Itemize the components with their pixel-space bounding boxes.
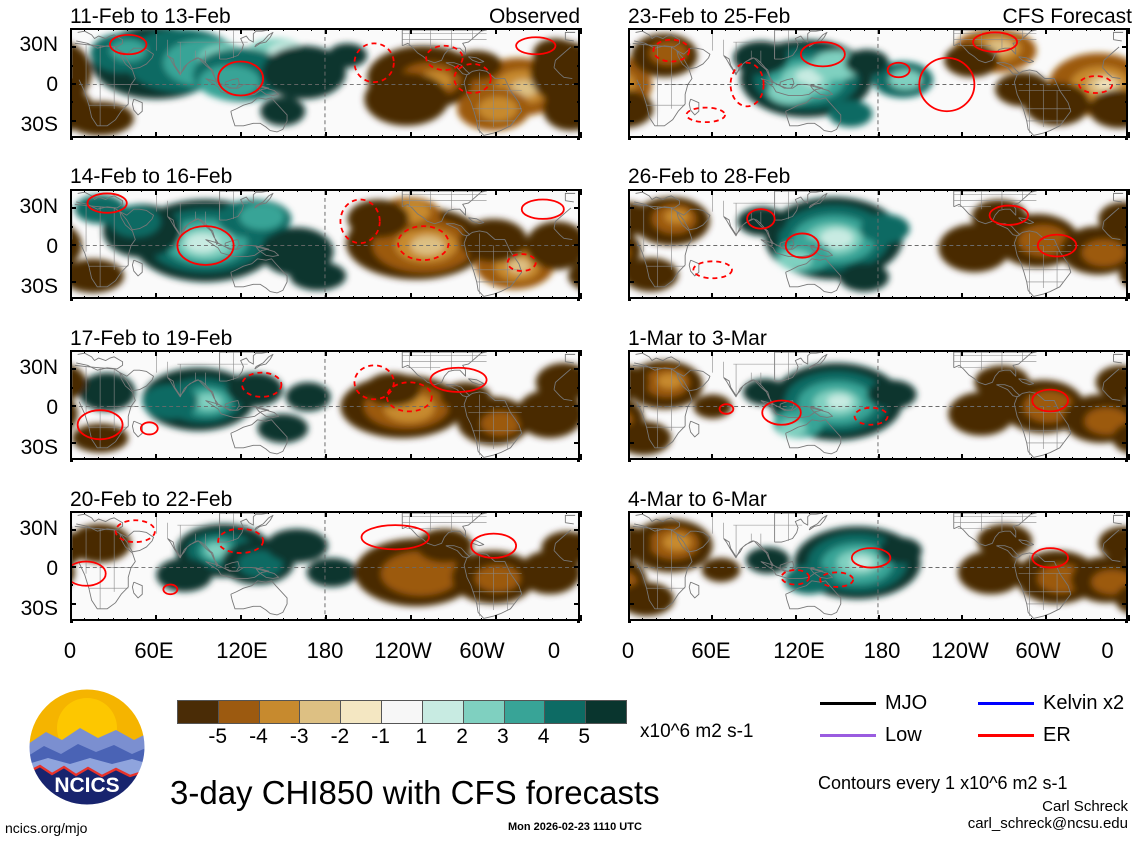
- x-tick-mark: [438, 296, 439, 299]
- x-tick-mark: [226, 618, 227, 621]
- x-tick-mark: [1017, 350, 1018, 353]
- x-tick-mark: [642, 618, 643, 621]
- x-tick-mark: [864, 189, 865, 192]
- x-tick-mark: [311, 296, 312, 299]
- x-tick-mark: [697, 511, 698, 514]
- x-tick-mark: [254, 618, 255, 621]
- x-tick-mark: [552, 189, 553, 192]
- x-tick-mark: [836, 350, 837, 353]
- x-tick-mark: [283, 28, 284, 31]
- x-tick-mark: [552, 457, 553, 460]
- x-tick-mark: [906, 618, 907, 621]
- x-tick-mark: [368, 28, 369, 31]
- y-tick-mark: [1122, 83, 1128, 85]
- x-tick-mark: [183, 511, 184, 514]
- x-tick-mark: [961, 350, 963, 356]
- x-tick-mark: [283, 618, 284, 621]
- y-tick-mark: [574, 368, 580, 370]
- x-tick-mark: [141, 350, 142, 353]
- y-tick-mark: [577, 621, 580, 623]
- x-tick-mark: [975, 296, 976, 299]
- x-tick-mark: [906, 135, 907, 138]
- x-tick-mark: [538, 296, 539, 299]
- contour-interval-note: Contours every 1 x10^6 m2 s-1: [818, 774, 1068, 792]
- x-tick-mark: [1059, 135, 1060, 138]
- x-tick-mark: [368, 618, 369, 621]
- map-panel-p8[interactable]: [628, 511, 1128, 621]
- x-tick-mark: [920, 189, 921, 192]
- x-tick-mark: [697, 350, 698, 353]
- x-tick-mark: [753, 296, 754, 299]
- colorbar-swatch-6: [422, 701, 463, 723]
- x-tick-mark: [410, 189, 412, 195]
- x-tick-mark: [975, 618, 976, 621]
- x-tick-mark: [989, 135, 990, 138]
- x-tick-mark: [781, 457, 782, 460]
- x-tick-mark: [98, 350, 99, 353]
- x-tick-mark: [113, 457, 114, 460]
- x-tick-mark: [580, 189, 582, 195]
- legend-label-er: ER: [1043, 725, 1071, 745]
- x-tick-mark: [920, 350, 921, 353]
- y-tick-mark: [628, 65, 631, 67]
- x-tick-mark: [836, 189, 837, 192]
- y-tick-mark: [628, 83, 634, 85]
- legend-line-low: [820, 734, 876, 737]
- x-tick-mark: [656, 457, 657, 460]
- x-tick-mark: [725, 296, 726, 299]
- x-tick-mark: [396, 296, 397, 299]
- y-tick-mark: [70, 262, 73, 264]
- colorbar-tick-neg3: -3: [277, 726, 321, 747]
- x-tick-mark: [113, 189, 114, 192]
- x-tick-mark: [1059, 296, 1060, 299]
- x-tick-mark: [98, 189, 99, 192]
- x-tick-mark: [1100, 189, 1101, 192]
- x-tick-mark: [1114, 28, 1115, 31]
- x-tick-mark: [382, 28, 383, 31]
- x-tick-mark: [670, 511, 671, 514]
- x-tick-mark: [254, 457, 255, 460]
- x-tick-mark: [1128, 293, 1130, 299]
- x-tick-mark: [961, 511, 963, 517]
- x-tick-mark: [481, 296, 482, 299]
- x-tick-mark: [1017, 511, 1018, 514]
- x-tick-mark: [481, 350, 482, 353]
- x-tick-mark: [509, 457, 510, 460]
- x-tick-mark: [127, 457, 128, 460]
- x-tick-mark: [822, 618, 823, 621]
- x-tick-mark: [410, 28, 412, 34]
- x-tick-mark: [98, 28, 99, 31]
- x-tick-mark: [670, 28, 671, 31]
- x-tick-mark: [297, 511, 298, 514]
- x-tick-mark: [240, 132, 242, 138]
- x-tick-mark: [198, 618, 199, 621]
- x-tick-mark: [509, 618, 510, 621]
- x-tick-mark: [523, 350, 524, 353]
- y-tick-mark: [70, 101, 73, 103]
- x-tick-mark: [1086, 135, 1087, 138]
- x-tick-mark: [989, 189, 990, 192]
- x-tick-mark: [268, 457, 269, 460]
- x-tick-mark: [183, 350, 184, 353]
- x-tick-mark: [297, 350, 298, 353]
- x-tick-mark: [155, 189, 157, 195]
- y-tick-mark: [70, 46, 76, 48]
- x-tick-mark: [739, 618, 740, 621]
- x-tick-mark: [1031, 28, 1032, 31]
- x-tick-mark: [822, 189, 823, 192]
- legend-line-er: [978, 734, 1034, 737]
- y-tick-mark: [628, 262, 631, 264]
- x-tick-mark: [1128, 615, 1130, 621]
- x-tick-mark: [198, 457, 199, 460]
- x-tick-mark: [1100, 350, 1101, 353]
- x-tick-mark: [141, 296, 142, 299]
- x-tick-mark: [212, 135, 213, 138]
- legend-line-kelvin: [978, 702, 1034, 705]
- x-tick-mark: [552, 28, 553, 31]
- x-tick-mark: [155, 511, 157, 517]
- x-tick-mark: [212, 618, 213, 621]
- x-tick-mark: [795, 350, 797, 356]
- y-tick-mark: [70, 603, 76, 605]
- colorbar-tick-2: 2: [440, 726, 484, 747]
- x-tick-mark: [580, 454, 582, 460]
- colorbar-swatch-10: [585, 701, 626, 723]
- y-tick-mark: [577, 423, 580, 425]
- site-url-footer[interactable]: ncics.org/mjo: [5, 821, 87, 835]
- x-tick-mark: [864, 618, 865, 621]
- x-tick-mark: [961, 28, 963, 34]
- x-tick-mark: [642, 189, 643, 192]
- x-tick-mark: [1003, 511, 1004, 514]
- y-tick-mark: [1122, 120, 1128, 122]
- x-tick-mark: [850, 457, 851, 460]
- y-tick-mark: [70, 460, 73, 462]
- map-panel-p6[interactable]: [628, 189, 1128, 299]
- x-tick-mark: [169, 28, 170, 31]
- y-tick-mark: [577, 299, 580, 301]
- x-tick-mark: [711, 28, 713, 34]
- x-tick-mark: [906, 189, 907, 192]
- colorbar-swatch-4: [340, 701, 381, 723]
- x-tick-mark: [297, 296, 298, 299]
- x-tick-mark: [753, 511, 754, 514]
- x-tick-mark: [1114, 189, 1115, 192]
- x-tick-mark: [169, 296, 170, 299]
- x-tick-mark: [920, 511, 921, 514]
- y-tick-mark: [574, 405, 580, 407]
- y-tick-mark: [70, 584, 73, 586]
- x-tick-mark: [552, 350, 553, 353]
- y-tick-mark: [577, 584, 580, 586]
- x-tick-mark: [725, 135, 726, 138]
- x-tick-mark: [268, 296, 269, 299]
- x-tick-mark: [836, 296, 837, 299]
- x-tick-mark: [311, 135, 312, 138]
- x-tick-mark: [127, 350, 128, 353]
- x-tick-mark: [453, 135, 454, 138]
- y-tick-mark: [70, 120, 76, 122]
- x-tick-mark: [410, 350, 412, 356]
- x-tick-mark: [934, 135, 935, 138]
- x-tick-mark: [467, 457, 468, 460]
- y-tick-mark: [577, 226, 580, 228]
- x-tick-mark: [283, 189, 284, 192]
- x-tick-mark: [382, 511, 383, 514]
- panel-title-p4: 20-Feb to 22-Feb: [70, 489, 232, 510]
- x-tick-mark: [684, 189, 685, 192]
- x-tick-mark: [552, 511, 553, 514]
- x-tick-mark: [509, 511, 510, 514]
- x-tick-mark: [523, 511, 524, 514]
- colorbar-tick-neg5: -5: [196, 726, 240, 747]
- y-tick-mark: [1122, 46, 1128, 48]
- x-tick-mark: [325, 350, 327, 356]
- x-tick-mark: [767, 457, 768, 460]
- x-tick-mark: [1072, 189, 1073, 192]
- x-tick-mark: [566, 350, 567, 353]
- x-tick-mark: [642, 511, 643, 514]
- x-tick-mark: [254, 189, 255, 192]
- x-tick-mark: [1045, 454, 1047, 460]
- x-tick-left-120e: 120E: [207, 640, 277, 662]
- x-tick-mark: [1003, 135, 1004, 138]
- map-panel-p2[interactable]: [70, 189, 580, 299]
- x-tick-mark: [325, 511, 327, 517]
- x-tick-mark: [396, 511, 397, 514]
- x-tick-mark: [538, 28, 539, 31]
- x-tick-mark: [906, 511, 907, 514]
- x-tick-mark: [552, 135, 553, 138]
- x-tick-mark: [183, 189, 184, 192]
- x-tick-mark: [864, 28, 865, 31]
- x-tick-mark: [311, 457, 312, 460]
- x-tick-mark: [141, 189, 142, 192]
- x-tick-mark: [141, 511, 142, 514]
- x-tick-mark: [424, 511, 425, 514]
- y-tick-mark: [574, 603, 580, 605]
- x-tick-mark: [725, 189, 726, 192]
- y-tick-30n-p3: 30N: [0, 357, 58, 378]
- ncics-logo[interactable]: NCICS: [28, 688, 146, 806]
- colorbar-tick-3: 3: [481, 726, 525, 747]
- x-tick-mark: [438, 511, 439, 514]
- x-tick-mark: [268, 350, 269, 353]
- x-tick-mark: [311, 350, 312, 353]
- x-tick-mark: [566, 189, 567, 192]
- map-panel-p5[interactable]: [628, 28, 1128, 138]
- y-tick-mark: [574, 529, 580, 531]
- map-panel-p3[interactable]: [70, 350, 580, 460]
- x-tick-mark: [656, 296, 657, 299]
- x-tick-mark: [767, 189, 768, 192]
- x-tick-mark: [481, 618, 482, 621]
- colorbar-tick-5: 5: [562, 726, 606, 747]
- x-tick-mark: [566, 28, 567, 31]
- x-tick-mark: [656, 511, 657, 514]
- map-panel-p7[interactable]: [628, 350, 1128, 460]
- x-tick-mark: [1003, 28, 1004, 31]
- y-tick-mark: [628, 207, 634, 209]
- x-tick-mark: [892, 457, 893, 460]
- x-tick-mark: [864, 350, 865, 353]
- x-tick-mark: [382, 457, 383, 460]
- x-tick-mark: [84, 350, 85, 353]
- x-tick-left-180: 180: [295, 640, 355, 662]
- x-tick-mark: [1031, 511, 1032, 514]
- x-tick-mark: [975, 511, 976, 514]
- x-tick-mark: [656, 189, 657, 192]
- x-tick-mark: [822, 296, 823, 299]
- map-canvas-p6: [630, 191, 1126, 299]
- map-panel-p1[interactable]: [70, 28, 580, 138]
- x-tick-mark: [753, 28, 754, 31]
- map-panel-p4[interactable]: [70, 511, 580, 621]
- x-tick-mark: [975, 350, 976, 353]
- x-tick-mark: [566, 618, 567, 621]
- x-tick-mark: [353, 135, 354, 138]
- y-tick-30n-p2: 30N: [0, 196, 58, 217]
- x-tick-mark: [353, 511, 354, 514]
- y-tick-mark: [70, 368, 76, 370]
- x-tick-mark: [1114, 457, 1115, 460]
- x-tick-mark: [538, 189, 539, 192]
- y-tick-mark: [574, 566, 580, 568]
- y-tick-0-p4: 0: [0, 558, 58, 579]
- y-tick-30s-p4: 30S: [0, 598, 58, 619]
- y-tick-mark: [1125, 621, 1128, 623]
- y-tick-mark: [1122, 442, 1128, 444]
- x-tick-mark: [697, 189, 698, 192]
- x-tick-mark: [396, 618, 397, 621]
- x-tick-mark: [947, 28, 948, 31]
- x-tick-mark: [906, 296, 907, 299]
- x-tick-mark: [753, 457, 754, 460]
- x-tick-mark: [169, 350, 170, 353]
- y-tick-mark: [1125, 584, 1128, 586]
- y-tick-mark: [628, 46, 634, 48]
- x-tick-mark: [795, 28, 797, 34]
- y-tick-mark: [628, 387, 631, 389]
- x-tick-mark: [226, 457, 227, 460]
- x-tick-mark: [538, 350, 539, 353]
- x-tick-mark: [1045, 350, 1047, 356]
- x-tick-mark: [1086, 189, 1087, 192]
- y-tick-mark: [628, 299, 631, 301]
- y-tick-mark: [577, 138, 580, 140]
- x-tick-mark: [325, 454, 327, 460]
- x-tick-mark: [961, 132, 963, 138]
- x-tick-mark: [495, 511, 497, 517]
- author-email[interactable]: carl_schreck@ncsu.edu: [968, 815, 1128, 832]
- x-tick-mark: [1072, 28, 1073, 31]
- x-tick-mark: [325, 132, 327, 138]
- x-tick-mark: [580, 293, 582, 299]
- x-tick-mark: [453, 511, 454, 514]
- x-tick-mark: [98, 457, 99, 460]
- x-tick-mark: [1003, 189, 1004, 192]
- x-tick-left-60w: 60W: [452, 640, 512, 662]
- x-tick-mark: [947, 350, 948, 353]
- x-tick-mark: [670, 618, 671, 621]
- x-tick-mark: [98, 618, 99, 621]
- x-tick-mark: [934, 28, 935, 31]
- x-tick-mark: [684, 296, 685, 299]
- x-tick-mark: [453, 350, 454, 353]
- colorbar-tick-neg1: -1: [359, 726, 403, 747]
- y-tick-mark: [70, 138, 73, 140]
- x-tick-mark: [155, 28, 157, 34]
- x-tick-mark: [566, 296, 567, 299]
- x-tick-mark: [1045, 615, 1047, 621]
- x-tick-mark: [523, 135, 524, 138]
- x-tick-mark: [892, 350, 893, 353]
- x-tick-mark: [311, 189, 312, 192]
- x-tick-mark: [538, 457, 539, 460]
- panel-title-p5: 23-Feb to 25-Feb: [628, 6, 790, 27]
- x-tick-mark: [495, 293, 497, 299]
- x-tick-mark: [212, 511, 213, 514]
- x-tick-mark: [198, 189, 199, 192]
- x-tick-mark: [495, 454, 497, 460]
- x-tick-left-0: 0: [40, 640, 100, 662]
- y-tick-mark: [1122, 368, 1128, 370]
- x-tick-mark: [670, 457, 671, 460]
- x-tick-mark: [809, 618, 810, 621]
- y-tick-mark: [1122, 566, 1128, 568]
- y-tick-mark: [70, 281, 76, 283]
- x-tick-mark: [711, 511, 713, 517]
- x-tick-mark: [254, 28, 255, 31]
- x-tick-mark: [198, 28, 199, 31]
- x-tick-mark: [739, 28, 740, 31]
- x-tick-mark: [552, 618, 553, 621]
- y-tick-0-p2: 0: [0, 236, 58, 257]
- x-tick-mark: [1045, 28, 1047, 34]
- x-tick-mark: [656, 618, 657, 621]
- y-tick-mark: [628, 101, 631, 103]
- x-tick-mark: [580, 28, 582, 34]
- y-tick-mark: [628, 584, 631, 586]
- x-tick-mark: [198, 296, 199, 299]
- y-tick-mark: [628, 603, 634, 605]
- x-tick-mark: [495, 28, 497, 34]
- x-tick-mark: [481, 189, 482, 192]
- x-tick-mark: [424, 189, 425, 192]
- y-tick-mark: [70, 189, 73, 191]
- x-tick-mark: [98, 135, 99, 138]
- x-tick-mark: [920, 618, 921, 621]
- y-tick-mark: [1125, 138, 1128, 140]
- x-tick-mark: [1114, 296, 1115, 299]
- x-tick-mark: [1100, 511, 1101, 514]
- x-tick-mark: [169, 135, 170, 138]
- x-tick-mark: [670, 296, 671, 299]
- y-tick-mark: [70, 299, 73, 301]
- x-tick-mark: [240, 189, 242, 195]
- x-tick-mark: [84, 296, 85, 299]
- x-tick-mark: [212, 457, 213, 460]
- x-tick-mark: [467, 296, 468, 299]
- x-tick-mark: [878, 511, 880, 517]
- x-tick-mark: [850, 189, 851, 192]
- x-tick-mark: [268, 28, 269, 31]
- x-tick-mark: [781, 28, 782, 31]
- map-canvas-p1: [72, 30, 578, 138]
